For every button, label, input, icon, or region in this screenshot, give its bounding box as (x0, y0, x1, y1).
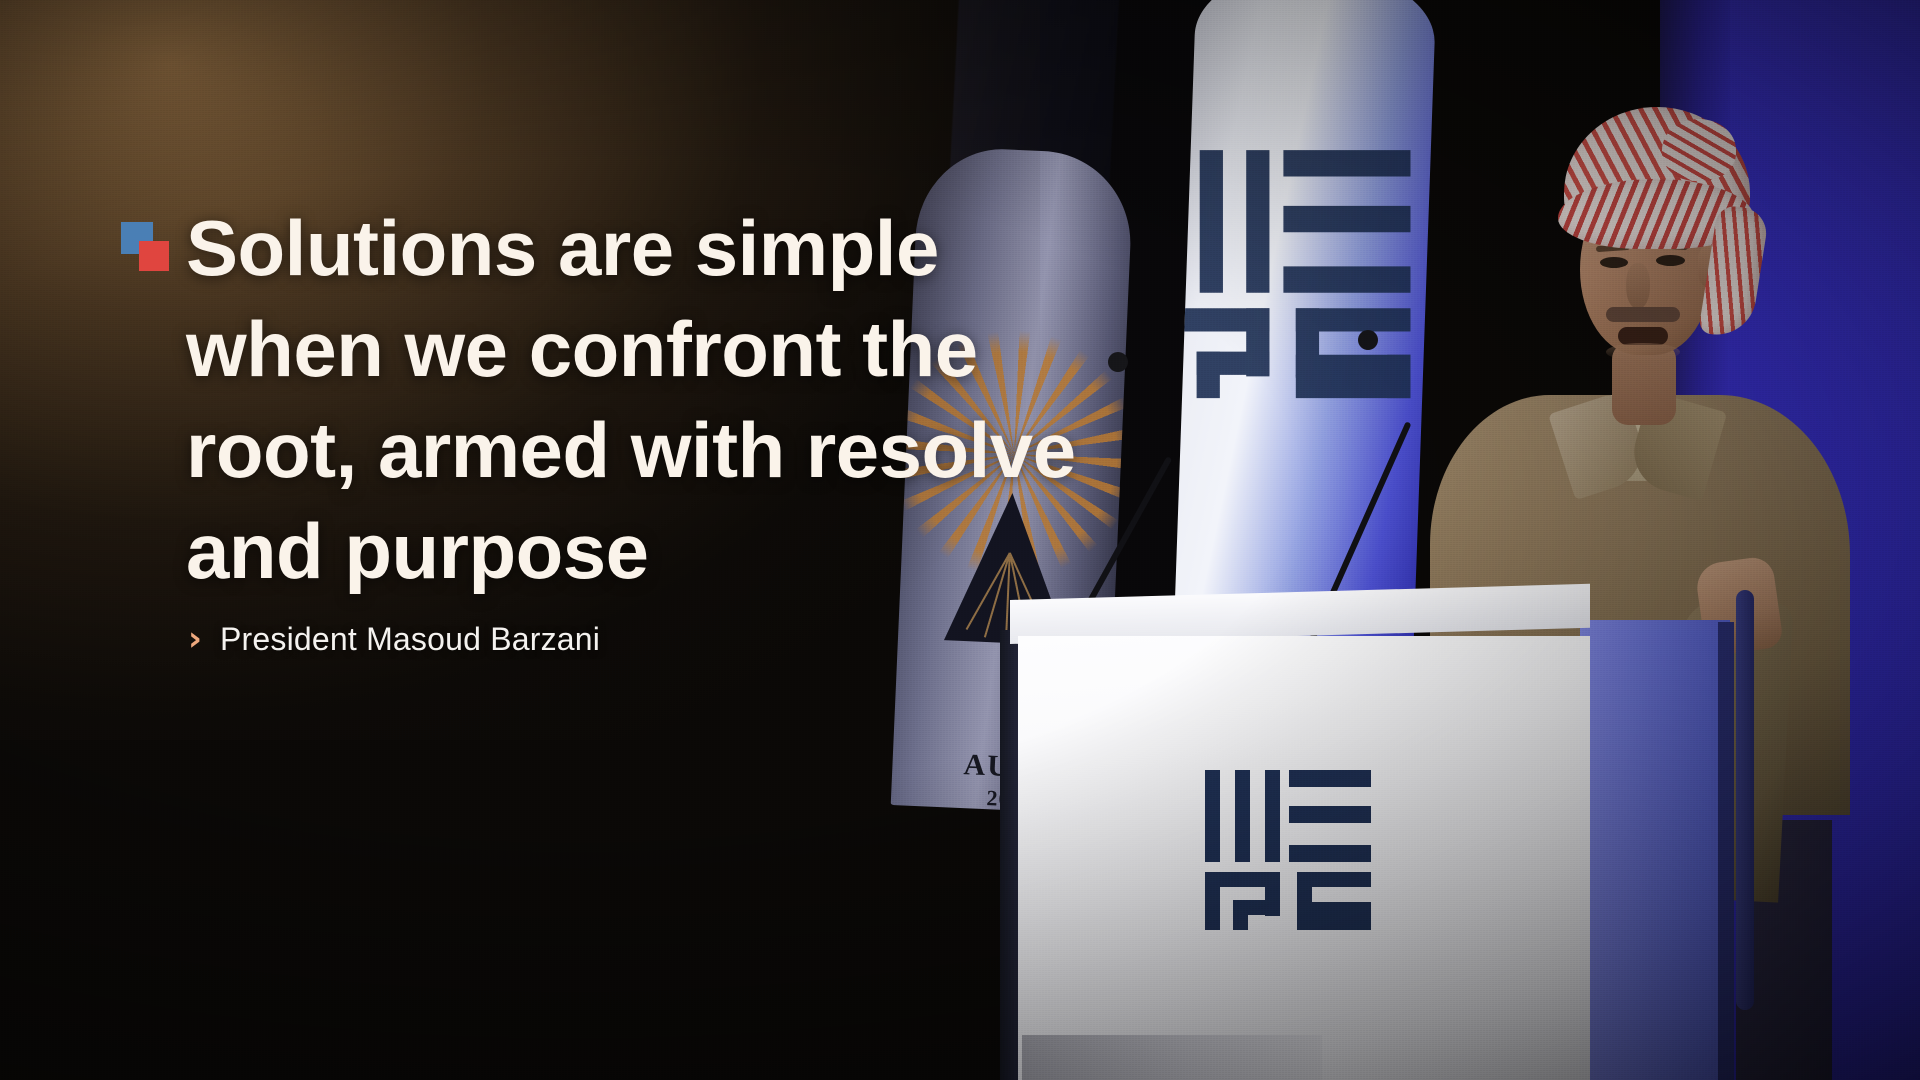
speaker-turban-knot (1662, 119, 1736, 181)
quote-line-4: and purpose (186, 501, 1186, 602)
quote-text: Solutions are simple when we confront th… (186, 198, 1186, 602)
quote-line-3: root, armed with resolve (186, 400, 1186, 501)
podium-side-edge (1718, 622, 1734, 1080)
mark-square-red (139, 241, 169, 271)
overlapping-squares-mark-icon (121, 222, 171, 272)
speaker-mustache (1606, 307, 1680, 322)
quote-overlay: Solutions are simple when we confront th… (0, 0, 1100, 1080)
speaker-nose (1626, 263, 1650, 309)
speaker-eye-right (1656, 255, 1685, 266)
podium-rail (1736, 590, 1754, 1010)
microphone-right-head (1358, 330, 1378, 350)
slide-canvas: AUK 20 UNIVE (0, 0, 1920, 1080)
speaker-chin (1606, 343, 1680, 361)
quote-line-2: when we confront the (186, 299, 1186, 400)
attribution: › President Masoud Barzani (188, 621, 600, 658)
quote-line-1: Solutions are simple (186, 198, 1186, 299)
meps-logo (1205, 760, 1375, 930)
podium-side-panel (1580, 620, 1730, 1080)
chevron-right-icon: › (188, 625, 206, 655)
attribution-name: President Masoud Barzani (220, 621, 600, 658)
meps-flag (1173, 0, 1437, 664)
meps-flag-logo (1173, 135, 1417, 399)
speaker-eye-left (1600, 257, 1628, 268)
